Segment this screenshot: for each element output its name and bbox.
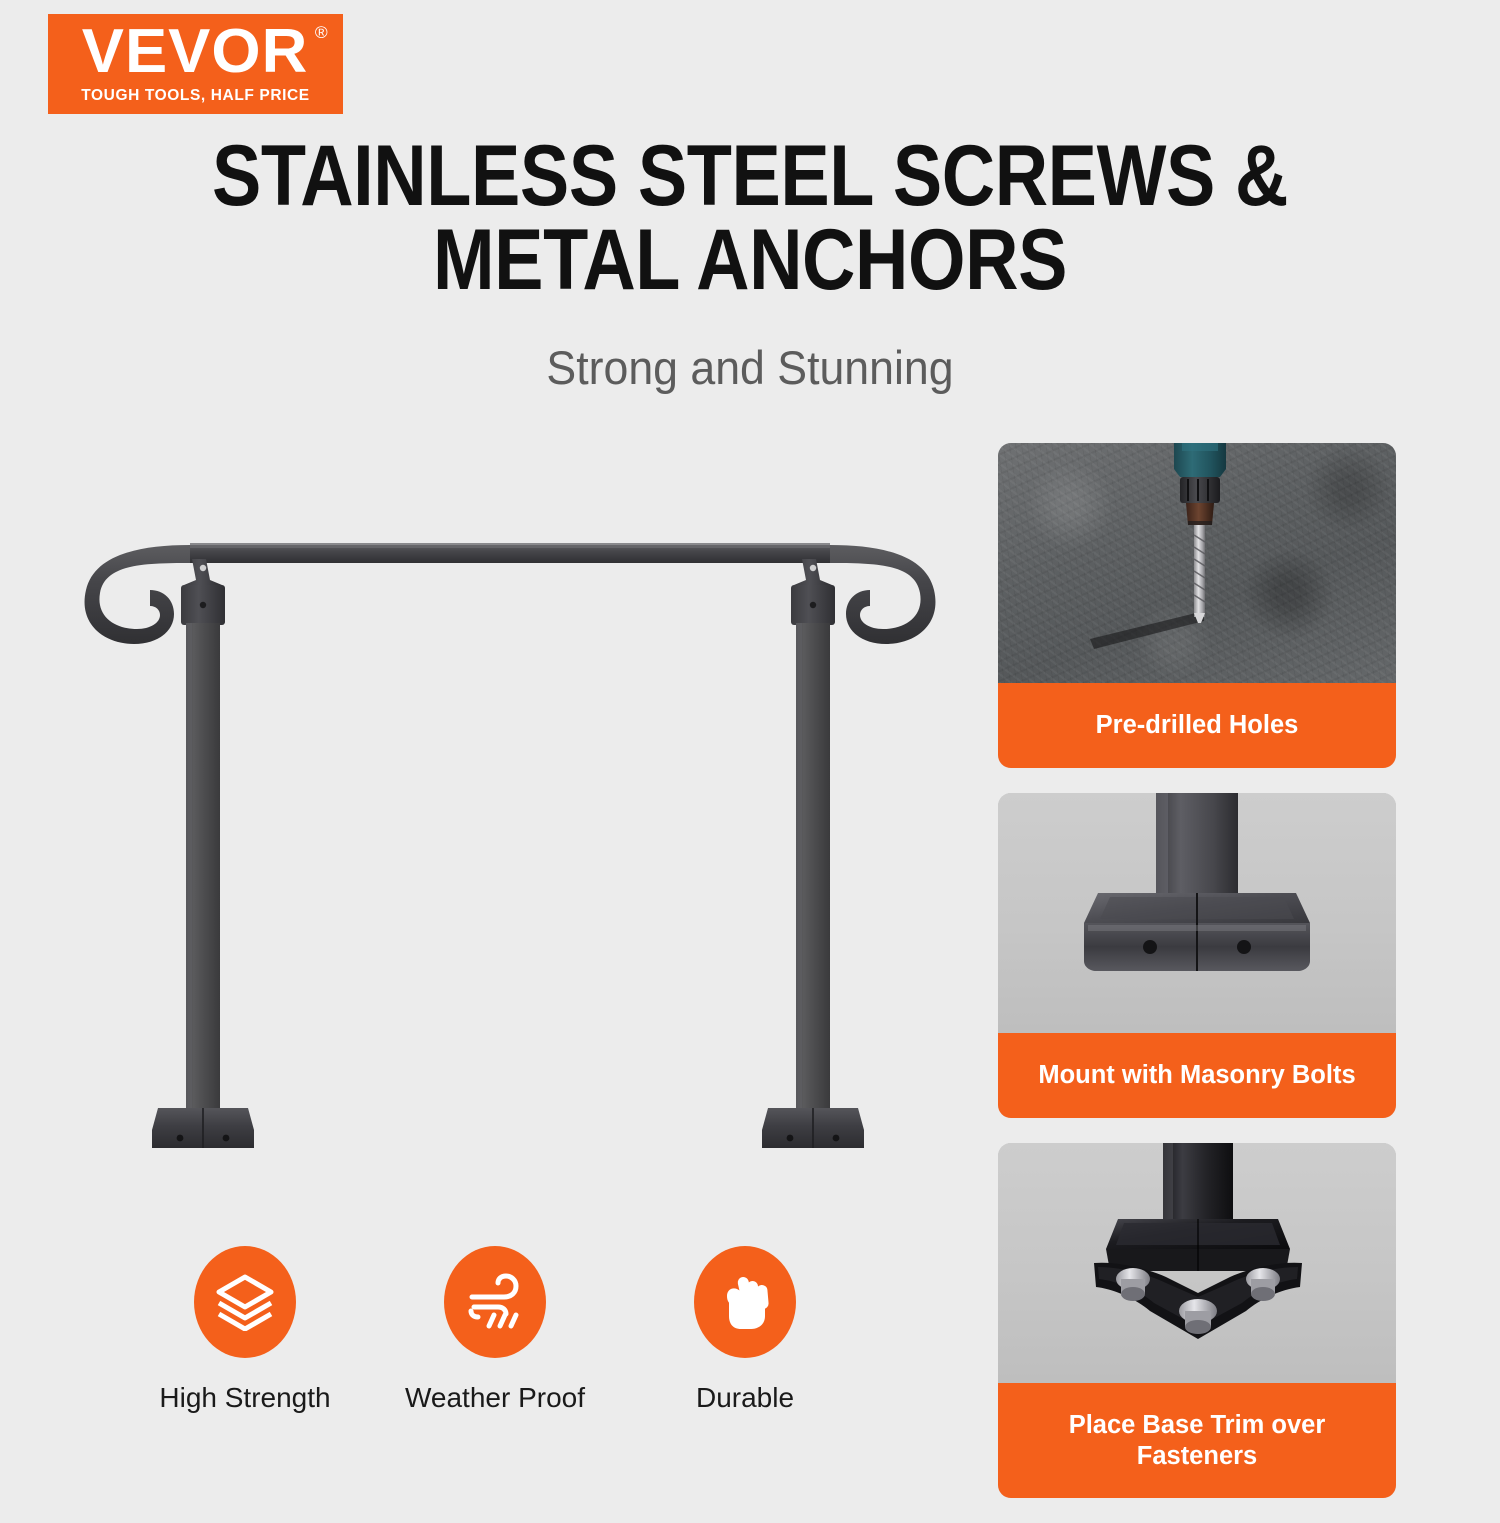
layers-icon — [215, 1273, 275, 1331]
badge-label: Durable — [696, 1382, 794, 1414]
post-left — [152, 559, 254, 1150]
badge-circle — [444, 1246, 546, 1358]
rail-hook-left — [85, 545, 190, 644]
handrail-illustration — [40, 430, 970, 1170]
feature-badge-list: High Strength Weather Proof — [120, 1246, 920, 1414]
drill-icon — [998, 443, 1396, 683]
page-subtitle: Strong and Stunning — [38, 340, 1463, 395]
feature-badge: Durable — [620, 1246, 870, 1414]
wind-icon — [464, 1273, 526, 1331]
post-right — [762, 559, 864, 1148]
vevor-logo: VEVOR® TOUGH TOOLS, HALF PRICE — [48, 14, 343, 114]
base-trim-icon — [998, 1143, 1396, 1383]
fist-icon — [717, 1272, 773, 1332]
feature-card[interactable]: Pre-drilled Holes — [998, 443, 1396, 768]
feature-badge: Weather Proof — [370, 1246, 620, 1414]
page-title: STAINLESS STEEL SCREWS & METAL ANCHORS — [105, 134, 1395, 302]
card-media-predrilled — [998, 443, 1396, 683]
title-line-2: METAL ANCHORS — [105, 218, 1395, 302]
feature-card-list: Pre-drilled Holes — [998, 443, 1396, 1523]
card-caption: Mount with Masonry Bolts — [998, 1033, 1396, 1118]
card-media-masonry-bolts — [998, 793, 1396, 1033]
badge-label: Weather Proof — [405, 1382, 585, 1414]
badge-circle — [194, 1246, 296, 1358]
brand-tagline: TOUGH TOOLS, HALF PRICE — [81, 87, 310, 105]
product-image — [40, 430, 970, 1170]
feature-card[interactable]: Place Base Trim over Fasteners — [998, 1143, 1396, 1498]
feature-card[interactable]: Mount with Masonry Bolts — [998, 793, 1396, 1118]
badge-label: High Strength — [159, 1382, 330, 1414]
title-line-1: STAINLESS STEEL SCREWS & — [105, 134, 1395, 218]
card-caption: Place Base Trim over Fasteners — [998, 1383, 1396, 1498]
registered-mark: ® — [315, 25, 329, 41]
card-caption: Pre-drilled Holes — [998, 683, 1396, 768]
card-media-base-trim — [998, 1143, 1396, 1383]
brand-wordmark: VEVOR® — [82, 23, 309, 82]
brand-name: VEVOR — [82, 17, 309, 86]
feature-badge: High Strength — [120, 1246, 370, 1414]
rail-hook-right — [830, 545, 935, 644]
base-plate-icon — [998, 793, 1396, 1033]
badge-circle — [694, 1246, 796, 1358]
